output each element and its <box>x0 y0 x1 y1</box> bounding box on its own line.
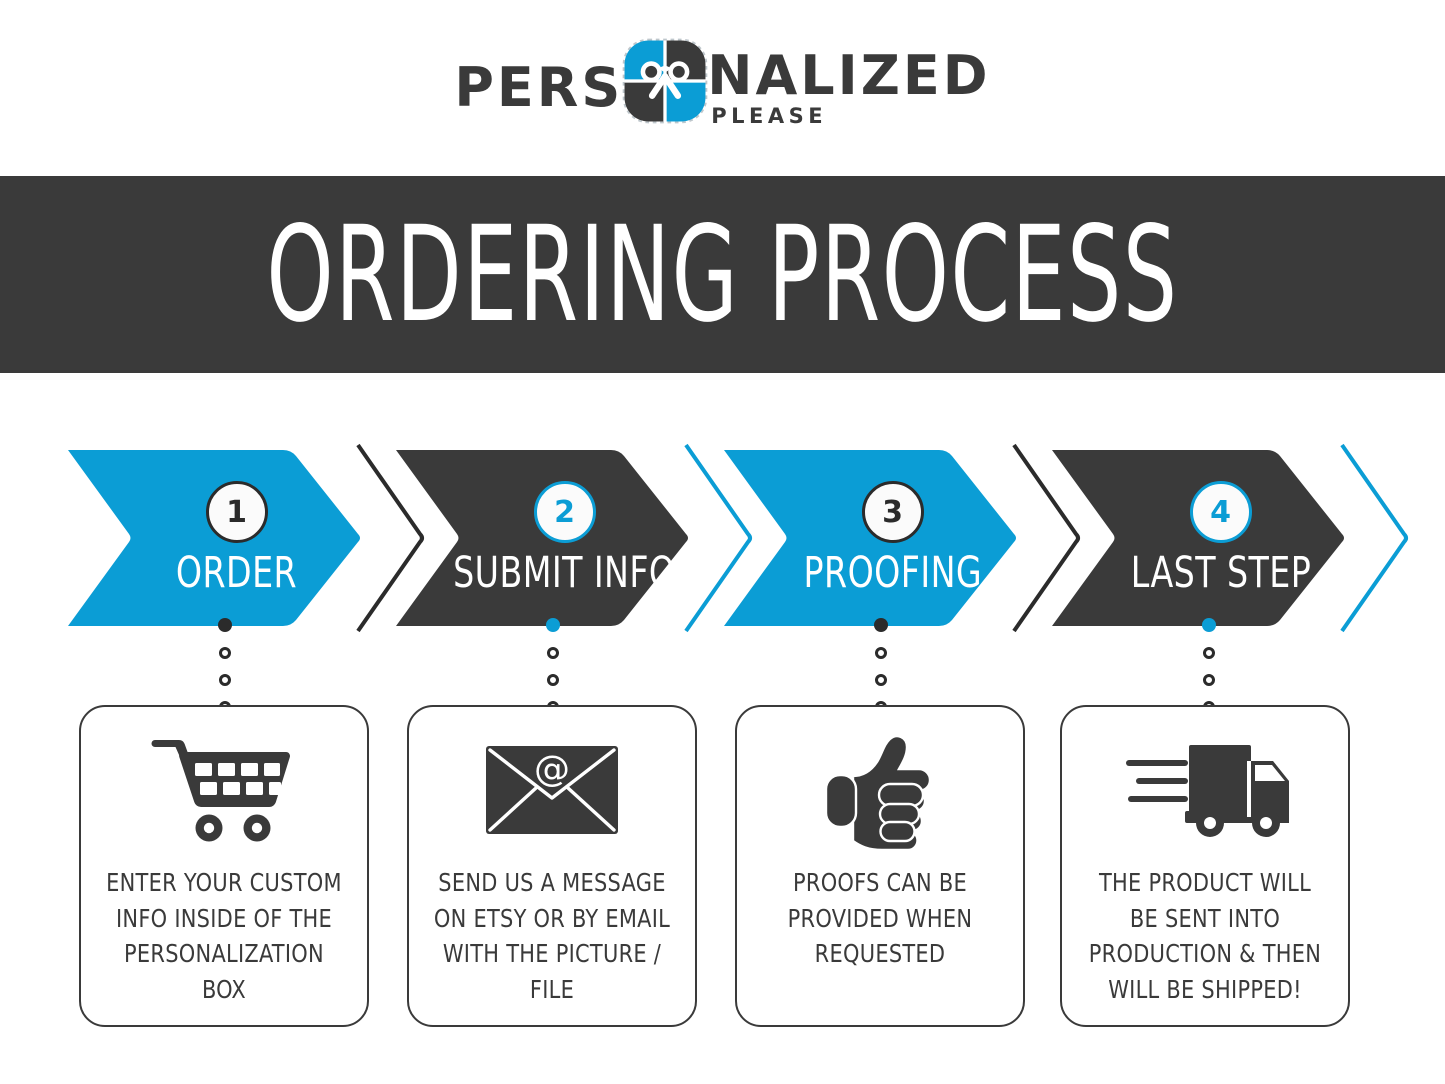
page-title: ORDERING PROCESS <box>266 209 1178 341</box>
logo-lockup: PERS <box>454 36 990 141</box>
connector-dot-ring <box>875 674 887 686</box>
step-2-label: SUBMIT INFO <box>453 552 675 595</box>
connector-dot-ring <box>219 647 231 659</box>
brand-logo: PERS <box>0 0 1445 176</box>
speed-lines <box>1129 763 1185 799</box>
step-4-label: LAST STEP <box>1130 552 1311 595</box>
step-3[interactable]: 3 PROOFING <box>785 447 1000 629</box>
connector-dots-4 <box>1202 618 1216 713</box>
card-order[interactable]: ENTER YOUR CUSTOM INFO INSIDE OF THE PER… <box>79 705 369 1027</box>
step-2-number: 2 <box>534 481 596 543</box>
connector-dots-2 <box>546 618 560 713</box>
step-3-label: PROOFING <box>803 552 982 595</box>
svg-text:@: @ <box>534 749 570 790</box>
connector-dots-3 <box>874 618 888 713</box>
card-3-text: PROOFS CAN BE PROVIDED WHEN REQUESTED <box>747 865 1013 1025</box>
process-steps-row: 1 ORDER 2 SUBMIT INFO 3 PROOFING 4 LAST … <box>0 447 1445 629</box>
step-detail-cards: ENTER YOUR CUSTOM INFO INSIDE OF THE PER… <box>0 705 1445 1030</box>
connector-dot-filled <box>874 618 888 632</box>
card-2-icon-wrap: @ <box>482 715 622 865</box>
thumbs-up-icon <box>820 731 940 849</box>
logo-word-left: PERS <box>454 61 623 115</box>
email-envelope-at-icon: @ <box>482 740 622 840</box>
connector-dot-filled <box>218 618 232 632</box>
connector-dot-ring <box>1203 647 1215 659</box>
card-4-text: THE PRODUCT WILL BE SENT INTO PRODUCTION… <box>1072 865 1338 1025</box>
connector-dot-filled <box>546 618 560 632</box>
step-1[interactable]: 1 ORDER <box>129 447 344 629</box>
connector-dot-ring <box>875 647 887 659</box>
step-3-number: 3 <box>862 481 924 543</box>
step-1-number: 1 <box>206 481 268 543</box>
shopping-cart-icon <box>149 730 299 850</box>
card-4-icon-wrap <box>1121 715 1289 865</box>
connector-dot-filled <box>1202 618 1216 632</box>
step-4-number: 4 <box>1190 481 1252 543</box>
card-1-text: ENTER YOUR CUSTOM INFO INSIDE OF THE PER… <box>91 865 357 1025</box>
gift-bow-emblem-icon <box>619 35 711 127</box>
step-1-label: ORDER <box>176 552 297 595</box>
connector-dot-ring <box>547 647 559 659</box>
card-proofing[interactable]: PROOFS CAN BE PROVIDED WHEN REQUESTED <box>735 705 1025 1027</box>
card-1-icon-wrap <box>149 715 299 865</box>
card-last-step[interactable]: THE PRODUCT WILL BE SENT INTO PRODUCTION… <box>1060 705 1350 1027</box>
ordering-process-infographic: PERS <box>0 0 1445 1084</box>
delivery-truck-icon <box>1121 735 1289 845</box>
page-title-bar: ORDERING PROCESS <box>0 176 1445 373</box>
chevron-labels: 1 ORDER 2 SUBMIT INFO 3 PROOFING 4 LAST … <box>0 447 1445 629</box>
step-2[interactable]: 2 SUBMIT INFO <box>457 447 672 629</box>
card-2-text: SEND US A MESSAGE ON ETSY OR BY EMAIL WI… <box>419 865 685 1025</box>
step-4[interactable]: 4 LAST STEP <box>1113 447 1328 629</box>
card-submit-info[interactable]: @ SEND US A MESSAGE ON ETSY OR BY EMAIL … <box>407 705 697 1027</box>
logo-word-right: NALIZED <box>707 49 990 103</box>
connector-dot-ring <box>1203 674 1215 686</box>
connector-dots-1 <box>218 618 232 713</box>
connector-dot-ring <box>547 674 559 686</box>
logo-right-stack: NALIZED PLEASE <box>707 49 990 127</box>
connector-dot-ring <box>219 674 231 686</box>
logo-tagline: PLEASE <box>711 106 827 127</box>
card-3-icon-wrap <box>820 715 940 865</box>
